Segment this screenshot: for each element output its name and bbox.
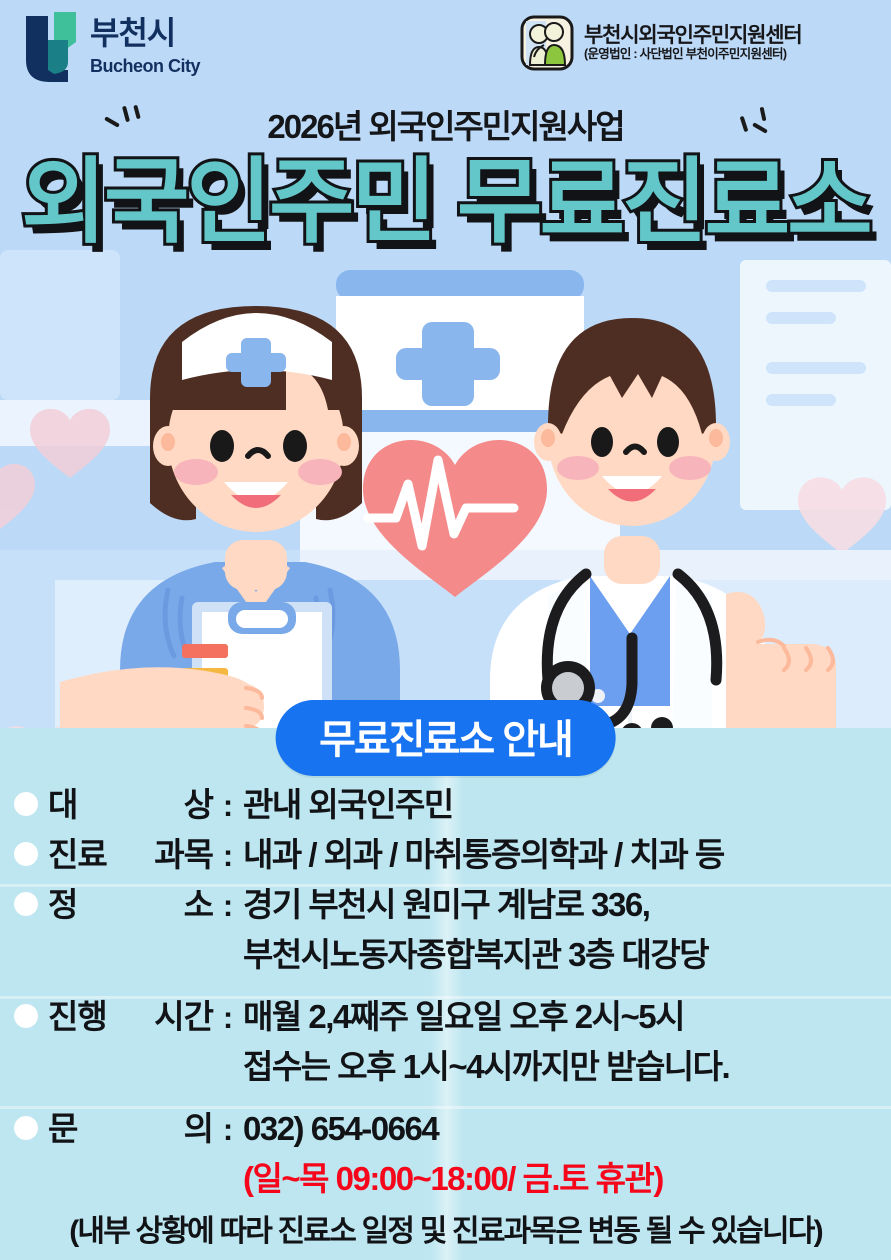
info-row-schedule: 진행 시간 : 매월 2,4째주 일요일 오후 2시~5시 접수는 오후 1시~… — [0, 990, 891, 1088]
info-value: 매월 2,4째주 일요일 오후 2시~5시 — [243, 990, 684, 1038]
poster-root: 부천시 Bucheon City 부천시외국인주민지원센터 (운영법인 : 사단… — [0, 0, 891, 1260]
label-part: 정 — [48, 878, 77, 926]
label-part: 의 — [184, 1102, 213, 1150]
info-value: 관내 외국인주민 — [243, 778, 453, 826]
center-logo-subtitle: (운영법인 : 사단법인 부천이주민지원센터) — [584, 48, 801, 61]
info-row-departments: 진료 과목 : 내과 / 외과 / 마취통증의학과 / 치과 등 — [0, 828, 891, 876]
info-section-badge: 무료진료소 안내 — [275, 700, 616, 776]
poster-footnote: (내부 상황에 따라 진료소 일정 및 진료과목은 변동 될 수 있습니다) — [0, 1206, 891, 1250]
poster-title: 외국인주민 무료진료소 — [0, 150, 891, 254]
info-value-continued: 접수는 오후 1시~4시까지만 받습니다. — [243, 1040, 729, 1088]
label-part: 진료 — [48, 828, 107, 876]
bullet-icon — [14, 792, 38, 816]
bullet-icon — [14, 1004, 38, 1028]
phone-number[interactable]: 032) 654-0664 — [243, 1110, 438, 1148]
row-spacer — [0, 978, 891, 990]
bullet-icon — [14, 1116, 38, 1140]
label-part: 과목 — [154, 828, 213, 876]
label-part: 상 — [184, 778, 213, 826]
info-value: 내과 / 외과 / 마취통증의학과 / 치과 등 — [243, 828, 724, 876]
label-colon: : — [213, 838, 243, 874]
label-part: 대 — [48, 778, 77, 826]
info-row-contact: 문 의 : 032) 654-0664 (일~목 09:00~18:00/ 금.… — [0, 1102, 891, 1200]
label-part: 문 — [48, 1102, 77, 1150]
label-colon: : — [213, 788, 243, 824]
two-people-icon — [520, 15, 574, 71]
svg-text:Bucheon City: Bucheon City — [90, 56, 200, 76]
info-value-continued: 부천시노동자종합복지관 3층 대강당 — [243, 928, 708, 976]
bucheon-city-logo: 부천시 Bucheon City — [18, 10, 208, 82]
poster-subtitle: 2026년 외국인주민지원사업 — [0, 100, 891, 148]
info-value: 경기 부천시 원미구 계남로 336, — [243, 878, 649, 926]
bullet-icon — [14, 842, 38, 866]
info-row-target: 대 상 : 관내 외국인주민 — [0, 778, 891, 826]
label-colon: : — [213, 888, 243, 924]
support-center-logo: 부천시외국인주민지원센터 (운영법인 : 사단법인 부천이주민지원센터) — [520, 10, 880, 76]
row-spacer — [0, 1090, 891, 1102]
office-hours-note: (일~목 09:00~18:00/ 금.토 휴관) — [243, 1152, 663, 1200]
info-list: 대 상 : 관내 외국인주민 진료 과목 : 내과 / 외과 / 마취통증의학과 — [0, 778, 891, 1202]
svg-text:부천시: 부천시 — [90, 15, 175, 51]
center-logo-title: 부천시외국인주민지원센터 — [584, 25, 801, 47]
label-part: 진행 — [48, 990, 107, 1038]
bullet-icon — [14, 892, 38, 916]
info-row-location: 정 소 : 경기 부천시 원미구 계남로 336, 부천시노동자종합복지관 3층… — [0, 878, 891, 976]
label-part: 시간 — [154, 990, 213, 1038]
illustration-area — [0, 250, 891, 740]
label-colon: : — [213, 1112, 243, 1148]
label-colon: : — [213, 1000, 243, 1036]
label-part: 소 — [184, 878, 213, 926]
